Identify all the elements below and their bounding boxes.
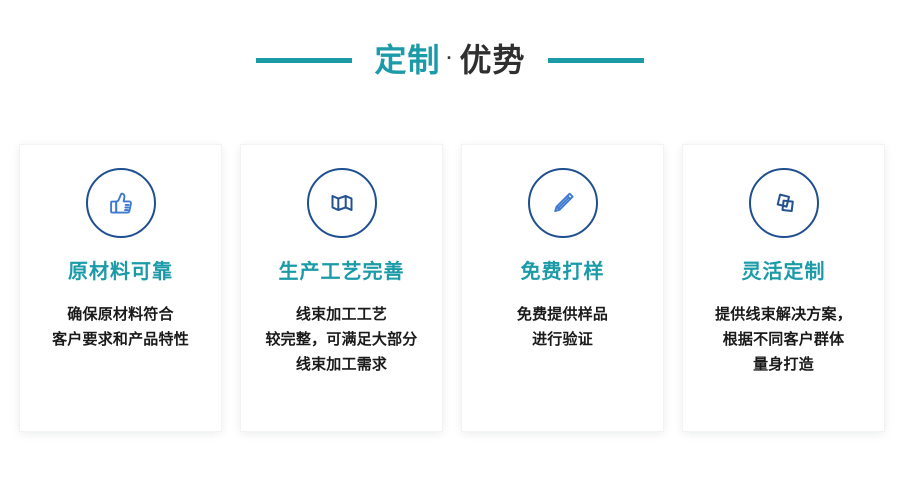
description-line: 确保原材料符合 [28, 302, 213, 327]
description-line: 根据不同客户群体 [691, 327, 876, 352]
feature-card-title: 免费打样 [521, 262, 605, 282]
feature-card-description: 提供线束解决方案， 根据不同客户群体 量身打造 [691, 302, 876, 377]
decorative-rule-right [548, 58, 644, 63]
page-title-main: 优势 [460, 44, 526, 76]
feature-card-list: 原材料可靠 确保原材料符合 客户要求和产品特性 生产工艺完善 线束加工工艺 较完… [20, 145, 886, 431]
thumbs-up-icon [103, 185, 139, 221]
description-line: 线束加工需求 [249, 352, 434, 377]
stacked-cards-icon [766, 185, 802, 221]
feature-card-description: 线束加工工艺 较完整，可满足大部分 线束加工需求 [249, 302, 434, 377]
icon-circle [749, 168, 819, 238]
page-title: 定制 · 优势 [374, 44, 525, 76]
page-title-accent: 定制 [374, 44, 440, 76]
description-line: 客户要求和产品特性 [28, 327, 213, 352]
icon-circle [528, 168, 598, 238]
section-header: 定制 · 优势 [0, 0, 900, 120]
description-line: 线束加工工艺 [249, 302, 434, 327]
feature-card-flexible-customization[interactable]: 灵活定制 提供线束解决方案， 根据不同客户群体 量身打造 [683, 145, 884, 431]
feature-card-free-sample[interactable]: 免费打样 免费提供样品 进行验证 [462, 145, 663, 431]
description-line: 量身打造 [691, 352, 876, 377]
feature-card-title: 灵活定制 [742, 262, 826, 282]
icon-circle [307, 168, 377, 238]
pencil-icon [545, 185, 581, 221]
folded-map-icon [324, 185, 360, 221]
feature-card-title: 原材料可靠 [68, 262, 173, 282]
decorative-rule-left [256, 58, 352, 63]
description-line: 进行验证 [470, 327, 655, 352]
feature-card-description: 免费提供样品 进行验证 [470, 302, 655, 352]
description-line: 免费提供样品 [470, 302, 655, 327]
feature-card-raw-material[interactable]: 原材料可靠 确保原材料符合 客户要求和产品特性 [20, 145, 221, 431]
description-line: 提供线束解决方案， [691, 302, 876, 327]
feature-card-production-process[interactable]: 生产工艺完善 线束加工工艺 较完整，可满足大部分 线束加工需求 [241, 145, 442, 431]
icon-circle [86, 168, 156, 238]
description-line: 较完整，可满足大部分 [249, 327, 434, 352]
feature-card-description: 确保原材料符合 客户要求和产品特性 [28, 302, 213, 352]
feature-card-title: 生产工艺完善 [279, 262, 405, 282]
page-title-separator: · [441, 49, 460, 67]
